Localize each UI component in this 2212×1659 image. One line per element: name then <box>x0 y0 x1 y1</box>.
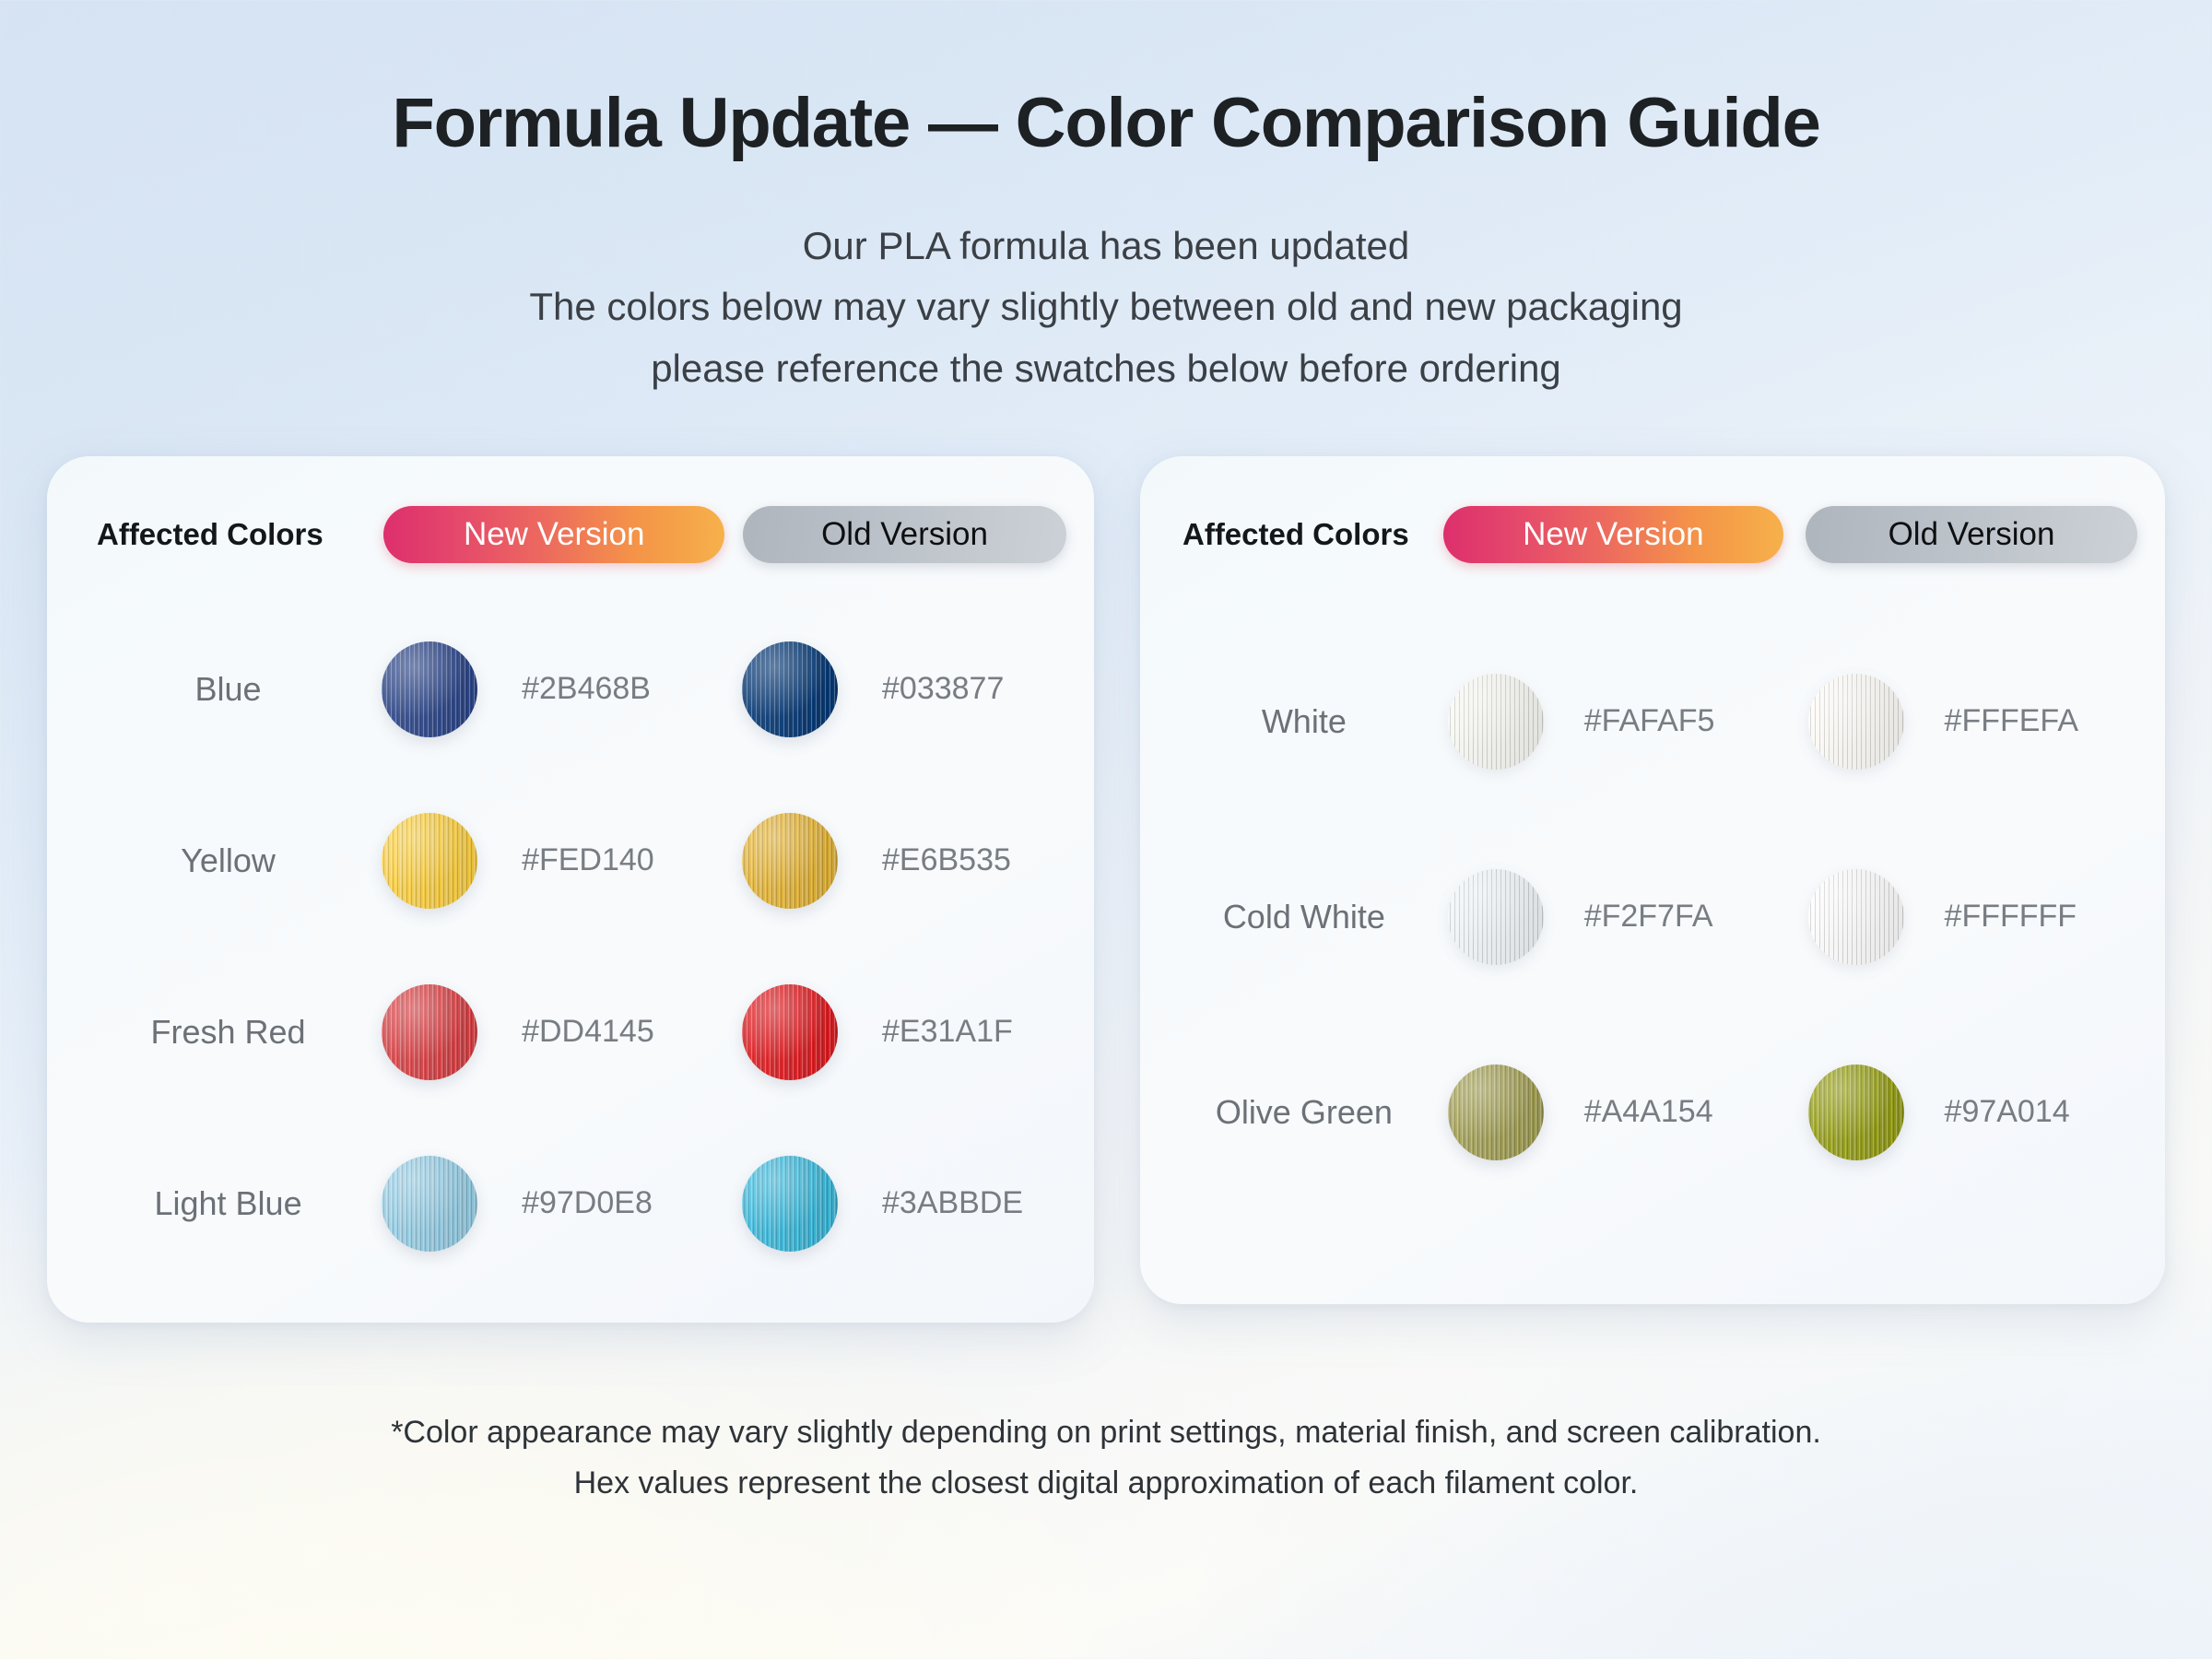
color-rows-left: Blue #2B468B #033877 Yellow #FED140 <box>75 587 1066 1289</box>
affected-colors-label: Affected Colors <box>1182 517 1443 552</box>
hex-value-old: #FFFEFA <box>1945 703 2078 739</box>
color-swatch-new[interactable] <box>1448 869 1544 965</box>
color-name-label: Cold White <box>1168 898 1441 936</box>
new-swatch-group: #2B468B <box>382 641 724 737</box>
hex-value-old: #97A014 <box>1945 1094 2070 1130</box>
table-row: Yellow #FED140 #E6B535 <box>75 775 1066 947</box>
color-swatch-new[interactable] <box>382 1156 477 1252</box>
table-row: Blue #2B468B #033877 <box>75 604 1066 775</box>
color-swatch-new[interactable] <box>1448 1065 1544 1160</box>
color-name-label: Yellow <box>75 841 382 880</box>
card-header-right: Affected Colors New Version Old Version <box>1168 489 2137 563</box>
table-row: Cold White #F2F7FA #FFFFFF <box>1168 819 2137 1015</box>
old-swatch-group: #FFFFFF <box>1808 869 2137 965</box>
footer-line-1: *Color appearance may vary slightly depe… <box>0 1407 2212 1458</box>
comparison-card-right: Affected Colors New Version Old Version … <box>1140 456 2165 1304</box>
color-swatch-new[interactable] <box>382 813 477 909</box>
new-swatch-group: #FED140 <box>382 813 724 909</box>
color-comparison-page: Formula Update — Color Comparison Guide … <box>0 0 2212 1659</box>
color-name-label: White <box>1168 702 1441 741</box>
subtitle-line-2: The colors below may vary slightly betwe… <box>0 276 2212 337</box>
new-swatch-group: #F2F7FA <box>1448 869 1786 965</box>
hex-value-new: #2B468B <box>522 671 651 707</box>
color-swatch-old[interactable] <box>742 1156 838 1252</box>
new-version-pill[interactable]: New Version <box>1443 506 1783 563</box>
card-header-left: Affected Colors New Version Old Version <box>75 489 1066 563</box>
color-swatch-old[interactable] <box>1808 674 1904 770</box>
new-swatch-group: #97D0E8 <box>382 1156 724 1252</box>
subtitle-line-1: Our PLA formula has been updated <box>0 216 2212 276</box>
hex-value-old: #FFFFFF <box>1945 899 2077 935</box>
new-version-pill[interactable]: New Version <box>383 506 724 563</box>
color-swatch-old[interactable] <box>1808 869 1904 965</box>
table-row: White #FAFAF5 #FFFEFA <box>1168 624 2137 819</box>
old-version-pill[interactable]: Old Version <box>1806 506 2137 563</box>
hex-value-new: #F2F7FA <box>1584 899 1713 935</box>
hex-value-new: #97D0E8 <box>522 1185 653 1221</box>
hex-value-old: #3ABBDE <box>882 1185 1023 1221</box>
old-swatch-group: #3ABBDE <box>742 1156 1066 1252</box>
hex-value-new: #FAFAF5 <box>1584 703 1715 739</box>
table-row: Olive Green #A4A154 #97A014 <box>1168 1015 2137 1210</box>
new-swatch-group: #DD4145 <box>382 984 724 1080</box>
hex-value-old: #E6B535 <box>882 842 1011 878</box>
hex-value-new: #FED140 <box>522 842 654 878</box>
old-swatch-group: #E31A1F <box>742 984 1066 1080</box>
old-swatch-group: #97A014 <box>1808 1065 2137 1160</box>
color-swatch-old[interactable] <box>742 641 838 737</box>
old-swatch-group: #E6B535 <box>742 813 1066 909</box>
hex-value-old: #033877 <box>882 671 1004 707</box>
footer-disclaimer: *Color appearance may vary slightly depe… <box>0 1407 2212 1509</box>
new-swatch-group: #A4A154 <box>1448 1065 1786 1160</box>
old-swatch-group: #033877 <box>742 641 1066 737</box>
color-name-label: Fresh Red <box>75 1013 382 1052</box>
affected-colors-label: Affected Colors <box>97 517 383 552</box>
footer-line-2: Hex values represent the closest digital… <box>0 1458 2212 1509</box>
color-swatch-old[interactable] <box>742 984 838 1080</box>
hex-value-old: #E31A1F <box>882 1014 1013 1050</box>
color-name-label: Olive Green <box>1168 1093 1441 1132</box>
old-swatch-group: #FFFEFA <box>1808 674 2137 770</box>
hex-value-new: #A4A154 <box>1584 1094 1713 1130</box>
subtitle-line-3: please reference the swatches below befo… <box>0 338 2212 399</box>
color-swatch-new[interactable] <box>382 984 477 1080</box>
old-version-pill[interactable]: Old Version <box>743 506 1066 563</box>
table-row: Fresh Red #DD4145 #E31A1F <box>75 947 1066 1118</box>
new-swatch-group: #FAFAF5 <box>1448 674 1786 770</box>
color-swatch-old[interactable] <box>1808 1065 1904 1160</box>
color-swatch-new[interactable] <box>1448 674 1544 770</box>
page-subtitle: Our PLA formula has been updated The col… <box>0 216 2212 399</box>
color-swatch-new[interactable] <box>382 641 477 737</box>
hex-value-new: #DD4145 <box>522 1014 654 1050</box>
comparison-card-left: Affected Colors New Version Old Version … <box>47 456 1094 1323</box>
comparison-cards: Affected Colors New Version Old Version … <box>0 456 2212 1323</box>
color-rows-right: White #FAFAF5 #FFFEFA Cold White #F2F7FA <box>1168 587 2137 1210</box>
color-name-label: Light Blue <box>75 1184 382 1223</box>
table-row: Light Blue #97D0E8 #3ABBDE <box>75 1118 1066 1289</box>
page-title: Formula Update — Color Comparison Guide <box>0 0 2212 160</box>
color-name-label: Blue <box>75 670 382 709</box>
color-swatch-old[interactable] <box>742 813 838 909</box>
